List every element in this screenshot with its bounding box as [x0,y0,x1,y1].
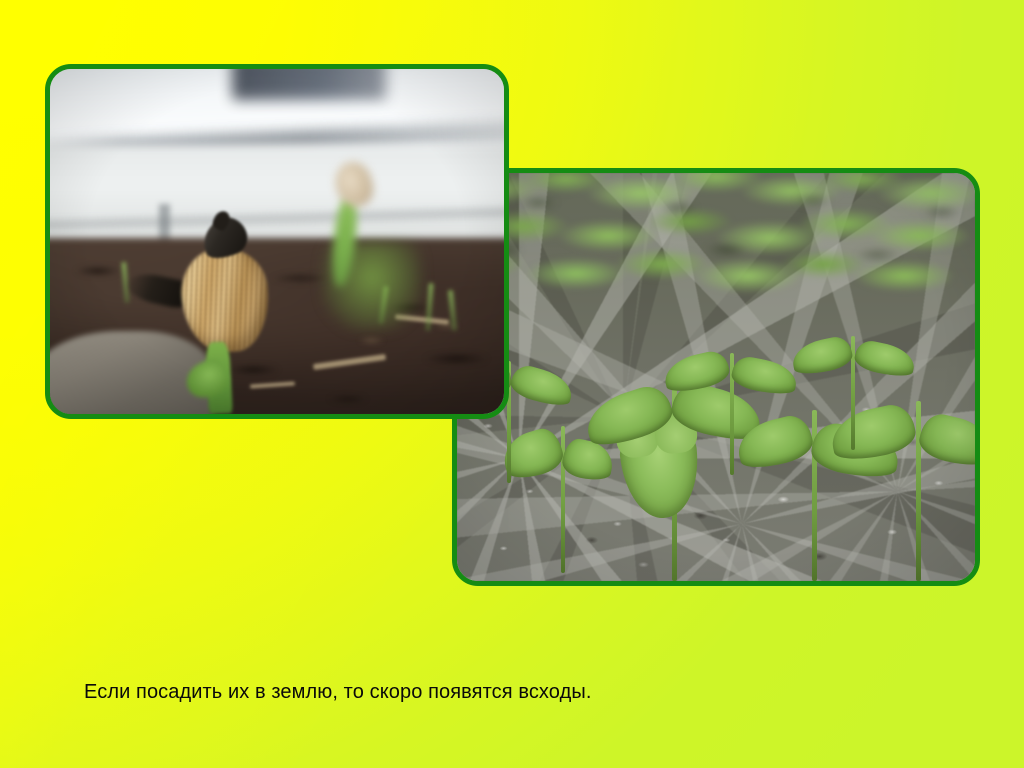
caption-line-1: Если посадить их в землю, то скоро появя… [84,678,904,707]
sunflower-seedling-field-photo[interactable] [452,168,980,586]
field-photo-vignette [457,173,975,581]
seed-photo-vignette [50,69,504,414]
slide-caption: Если посадить их в землю, то скоро появя… [84,620,904,768]
slide-canvas: Если посадить их в землю, то скоро появя… [0,0,1024,768]
seed-photo-content [50,69,504,414]
field-photo-content [457,173,975,581]
sprouting-sunflower-seed-photo[interactable] [45,64,509,419]
